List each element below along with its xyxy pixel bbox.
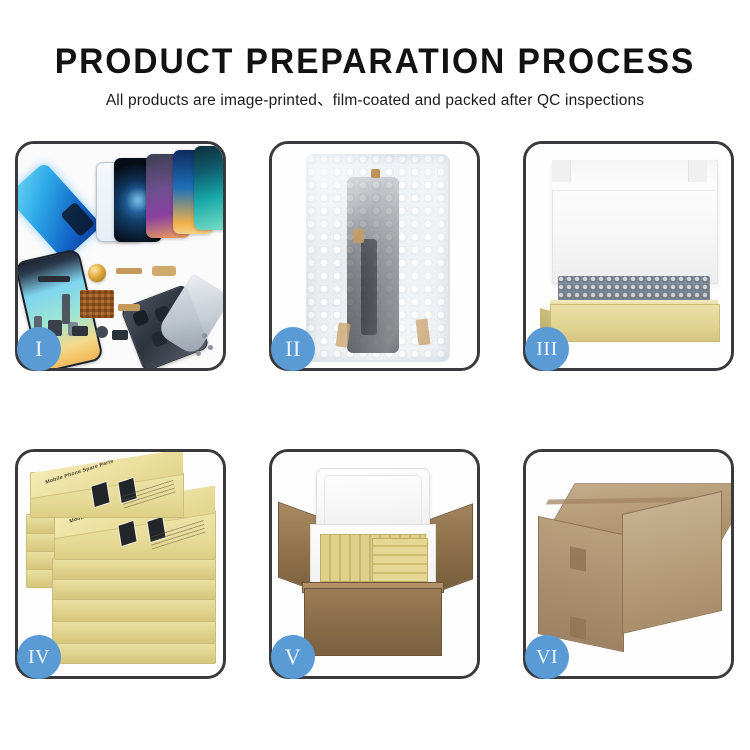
sim-tray-icon [112, 330, 128, 340]
carton-tape-tab-icon [570, 546, 586, 571]
flex-cable-icon [118, 304, 140, 311]
step-panel-6: VI [523, 449, 734, 679]
tape-piece-icon [371, 169, 380, 178]
tape-piece-icon [415, 318, 430, 345]
carton-right-face [622, 491, 722, 634]
tape-piece-icon [353, 229, 364, 243]
screen-flex-cable-icon [361, 239, 377, 335]
speaker-mesh-icon [38, 276, 70, 282]
step-panel-2: II [269, 141, 480, 371]
kraft-box-top-rear: Mobile Phone Spare Parts [30, 472, 184, 518]
stack-layer [52, 620, 216, 644]
chip-grid-icon [80, 290, 114, 318]
phone-screen-teal-icon [194, 146, 223, 230]
carton-front-panel [304, 588, 442, 656]
box-screen-thumbnail [117, 519, 137, 546]
step-panel-1: I [15, 141, 226, 371]
ribbon-cable-icon [62, 294, 70, 324]
page-title: PRODUCT PREPARATION PROCESS [15, 0, 735, 82]
flex-cable-2-icon [116, 268, 142, 274]
step-panel-5: V [269, 449, 480, 679]
step-badge-5: V [271, 635, 315, 679]
step-badge-3: III [525, 327, 569, 371]
box-stack: Mobile Phone Spare Parts Mobile Phone Sp… [24, 466, 220, 666]
stack-layer [52, 578, 216, 600]
stack-layer [52, 558, 216, 580]
step-badge-6: VI [525, 635, 569, 679]
stack-layer [52, 598, 216, 622]
product-preparation-infographic: PRODUCT PREPARATION PROCESS All products… [0, 0, 750, 750]
step-badge-2: II [271, 327, 315, 371]
step-badge-1: I [17, 327, 61, 371]
screw-icon [196, 351, 201, 356]
small-module-icon [72, 326, 88, 336]
foam-lid-right-flap [688, 160, 707, 182]
packed-yellow-boxes-icon [372, 538, 428, 582]
screw-icon [202, 333, 207, 338]
carton-tape-tab-icon [570, 616, 586, 639]
camera-lens-icon [96, 326, 108, 338]
step-badge-4: IV [17, 635, 61, 679]
page-subtitle: All products are image-printed、film-coat… [0, 82, 750, 111]
blue-screen-protector-icon [18, 162, 102, 261]
box-screen-thumbnail [90, 480, 110, 507]
process-steps-grid: I II [15, 141, 735, 681]
screw-icon [208, 345, 213, 350]
step-panel-4: Mobile Phone Spare Parts Mobile Phone Sp… [15, 449, 226, 679]
copper-coil-icon [88, 264, 106, 282]
step-panel-3: III [523, 141, 734, 371]
foam-lid-left-flap [552, 160, 571, 182]
kraft-box-front-panel [550, 304, 720, 342]
stack-layer [52, 642, 216, 664]
flex-cable-3-icon [152, 266, 176, 276]
header: PRODUCT PREPARATION PROCESS All products… [0, 0, 750, 111]
bubble-wrap-bag-icon [306, 154, 450, 362]
